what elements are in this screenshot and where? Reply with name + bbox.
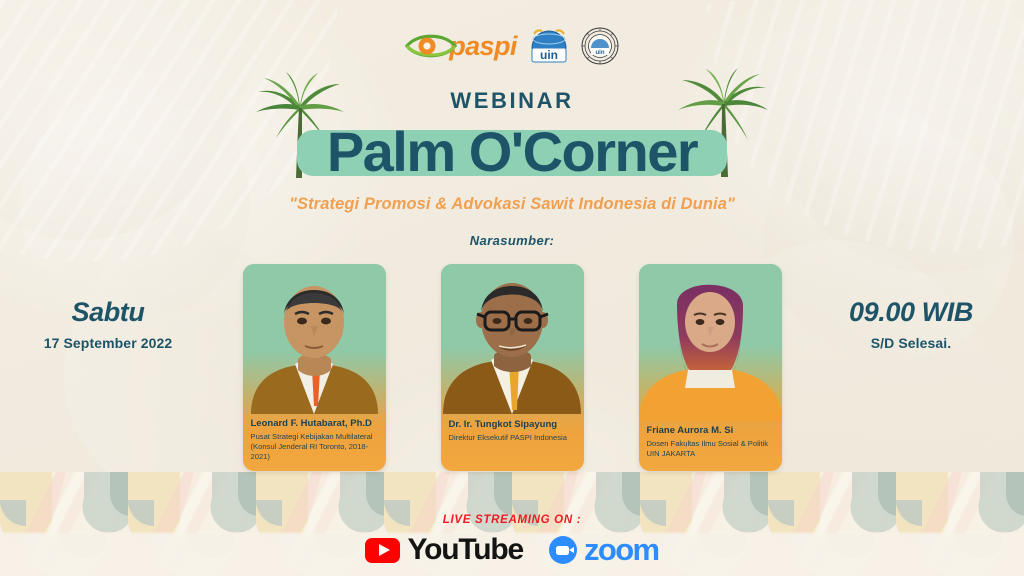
svg-text:uin: uin (595, 50, 604, 56)
speaker-card-list: Leonard F. Hutabarat, Ph.D Pusat Strateg… (0, 264, 1024, 471)
zoom-label: zoom (584, 532, 659, 568)
speaker-caption: Dr. Ir. Tungkot Sipayung Direktur Ekseku… (441, 414, 584, 452)
speaker-role: Dosen Fakultas Ilmu Sosial & Politik UIN… (647, 439, 774, 459)
speaker-name: Friane Aurora M. Si (647, 425, 774, 437)
speaker-card: Friane Aurora M. Si Dosen Fakultas Ilmu … (639, 264, 782, 471)
uin-seal-logo: uin (581, 27, 619, 65)
speaker-card: Leonard F. Hutabarat, Ph.D Pusat Strateg… (243, 264, 386, 471)
svg-text:uin: uin (540, 48, 558, 62)
youtube-platform[interactable]: YouTube (365, 533, 522, 567)
paspi-logo: paspi (405, 31, 517, 61)
speaker-photo (639, 264, 782, 422)
page-subtitle: "Strategi Promosi & Advokasi Sawit Indon… (0, 195, 1024, 214)
youtube-icon (365, 538, 400, 563)
webinar-poster: paspi uin uin (0, 0, 1024, 576)
streaming-section: LIVE STREAMING ON : YouTube zoom (0, 514, 1024, 568)
live-streaming-label: LIVE STREAMING ON : (0, 514, 1024, 526)
paspi-wordmark: paspi (449, 33, 517, 60)
platform-list: YouTube zoom (0, 532, 1024, 568)
main-title-wrapper: Palm O'Corner (313, 118, 711, 186)
speaker-role: Direktur Eksekutif PASPI Indonesia (449, 433, 576, 443)
speaker-photo (441, 264, 584, 414)
uin-logo: uin (528, 26, 570, 66)
speaker-role: Pusat Strategi Kebijakan Multilateral (K… (251, 432, 378, 462)
speaker-caption: Friane Aurora M. Si Dosen Fakultas Ilmu … (639, 422, 782, 468)
page-title: Palm O'Corner (313, 118, 711, 186)
logo-row: paspi uin uin (0, 26, 1024, 66)
zoom-icon (549, 536, 577, 564)
speaker-name: Leonard F. Hutabarat, Ph.D (251, 418, 378, 430)
speakers-section-label: Narasumber: (0, 233, 1024, 248)
speaker-caption: Leonard F. Hutabarat, Ph.D Pusat Strateg… (243, 414, 386, 471)
webinar-label: WEBINAR (0, 88, 1024, 114)
speaker-name: Dr. Ir. Tungkot Sipayung (449, 419, 576, 431)
youtube-label: YouTube (407, 533, 522, 567)
paspi-eye-icon (405, 31, 457, 61)
speaker-photo (243, 264, 386, 414)
title-block: WEBINAR Palm O'Corner "Strategi Promosi … (0, 88, 1024, 248)
speaker-card: Dr. Ir. Tungkot Sipayung Direktur Ekseku… (441, 264, 584, 471)
zoom-platform[interactable]: zoom (549, 532, 659, 568)
